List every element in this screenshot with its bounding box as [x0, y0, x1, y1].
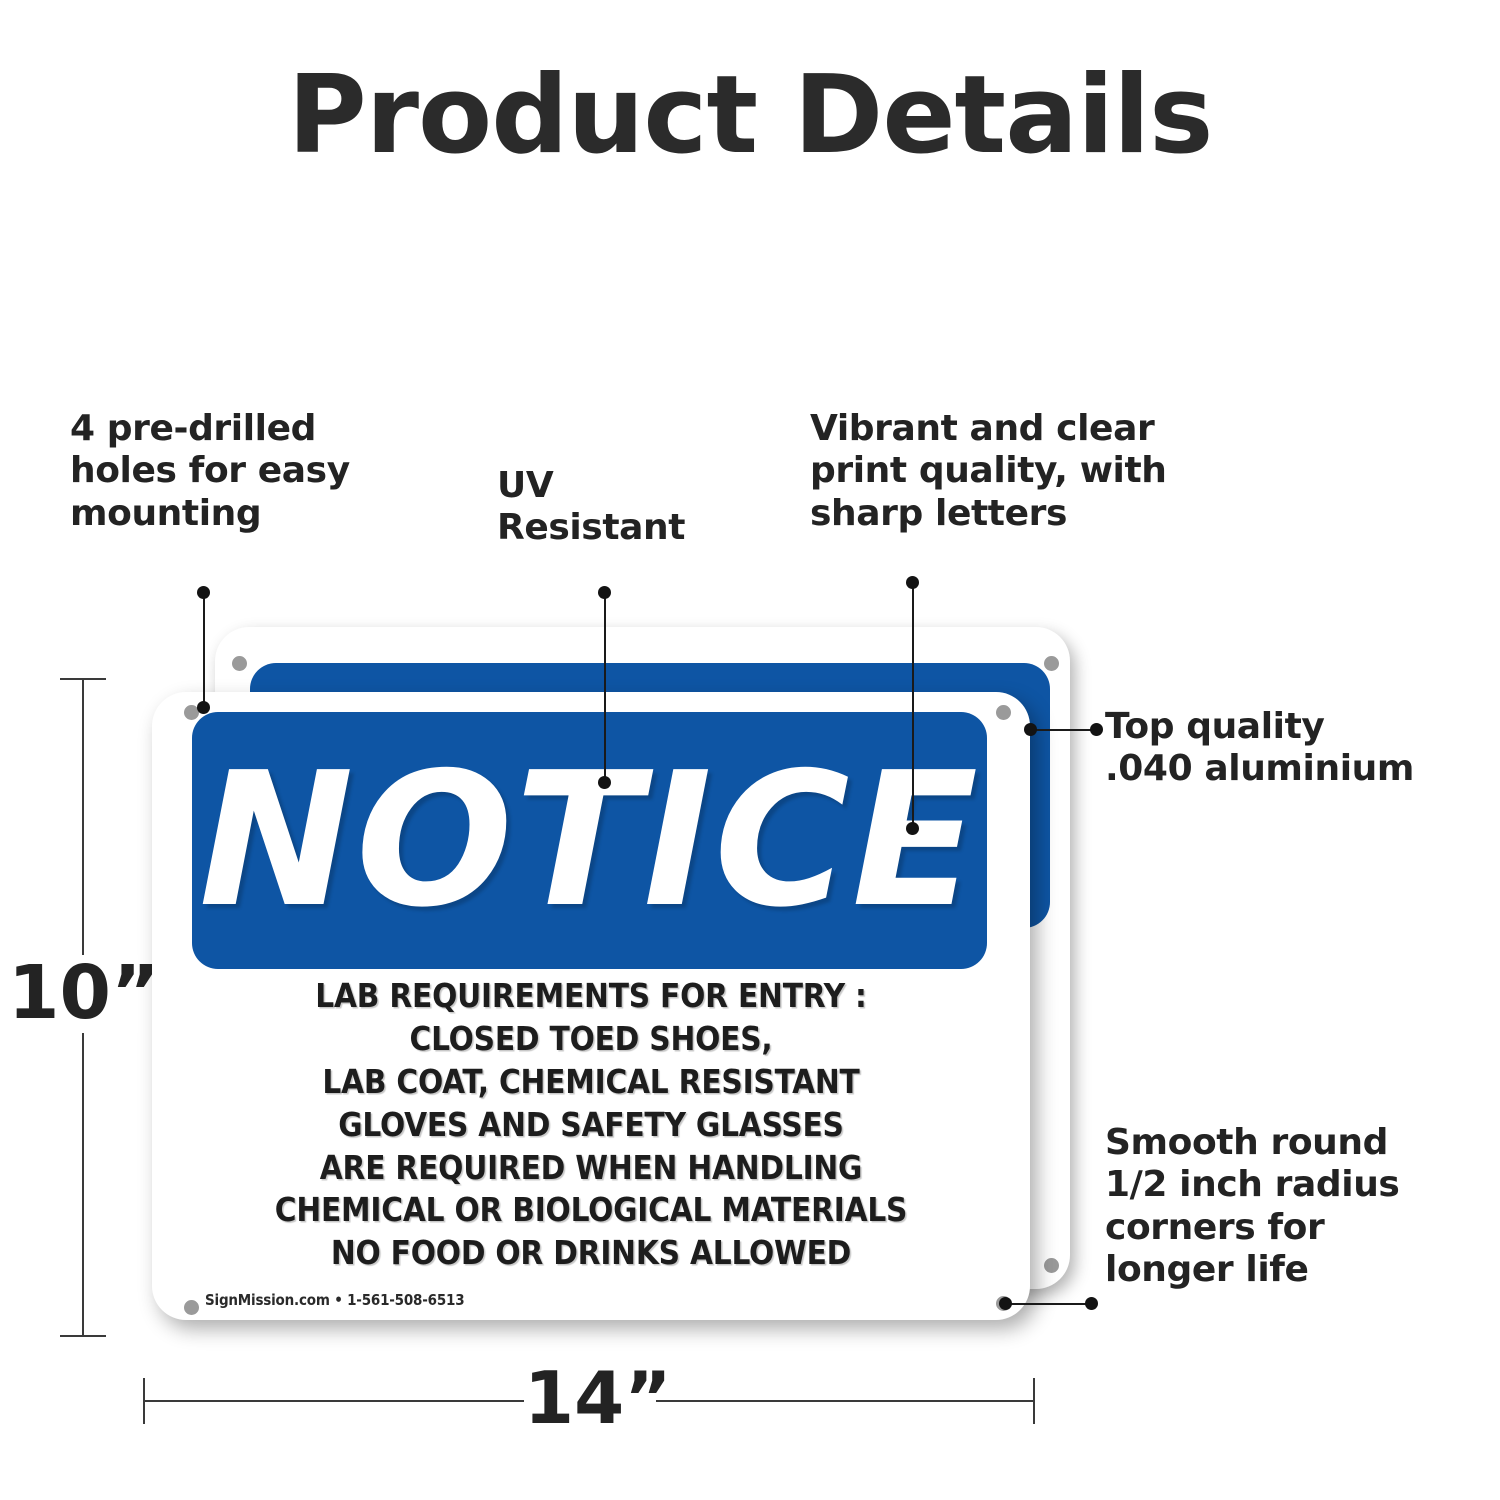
- leader-line-holes: [203, 592, 205, 708]
- dimension-width-label: 14”: [524, 1361, 656, 1437]
- sign-header-word: NOTICE: [192, 712, 987, 969]
- leader-dot-icon: [1085, 1297, 1098, 1310]
- mounting-hole-icon: [996, 705, 1011, 720]
- leader-dot-icon: [1024, 723, 1037, 736]
- callout-rounded-corners: Smooth round 1/2 inch radius corners for…: [1105, 1122, 1500, 1292]
- leader-line-print-quality: [912, 582, 914, 828]
- leader-dot-icon: [906, 576, 919, 589]
- sign-body-text: LAB REQUIREMENTS FOR ENTRY : CLOSED TOED…: [160, 975, 1022, 1275]
- callout-aluminium: Top quality .040 aluminium: [1105, 706, 1500, 791]
- dimension-cap-right: [1033, 1378, 1035, 1424]
- leader-dot-icon: [598, 586, 611, 599]
- leader-dot-icon: [906, 822, 919, 835]
- product-details-infographic: Product Details NOTICE LAB REQUIREMENTS …: [0, 0, 1500, 1500]
- mounting-hole-icon: [1044, 656, 1059, 671]
- dimension-cap-bottom: [60, 1335, 106, 1337]
- dimension-height-label: 10”: [8, 955, 138, 1033]
- leader-line-corners: [1005, 1303, 1090, 1305]
- mounting-hole-icon: [232, 656, 247, 671]
- leader-dot-icon: [197, 586, 210, 599]
- callout-print-quality: Vibrant and clear print quality, with sh…: [810, 408, 1280, 535]
- sign-footer-text: SignMission.com • 1-561-508-6513: [205, 1291, 464, 1309]
- dimension-cap-left: [143, 1378, 145, 1424]
- mounting-hole-icon: [184, 1300, 199, 1315]
- callout-uv-resistant: UV Resistant: [497, 465, 747, 550]
- leader-line-uv: [604, 592, 606, 782]
- leader-dot-icon: [197, 701, 210, 714]
- callout-predrilled-holes: 4 pre-drilled holes for easy mounting: [70, 408, 470, 535]
- leader-dot-icon: [1090, 723, 1103, 736]
- page-title: Product Details: [0, 62, 1500, 170]
- leader-dot-icon: [999, 1297, 1012, 1310]
- leader-dot-icon: [598, 776, 611, 789]
- mounting-hole-icon: [1044, 1258, 1059, 1273]
- leader-line-aluminium: [1030, 729, 1096, 731]
- dimension-cap-top: [60, 678, 106, 680]
